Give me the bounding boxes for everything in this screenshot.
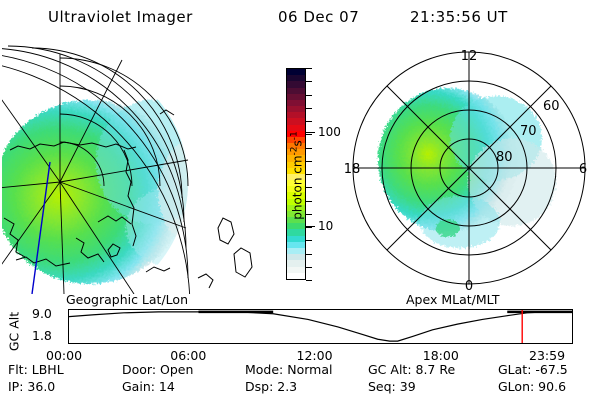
observation-date: 06 Dec 07 <box>278 8 359 26</box>
colorbar-minor-tick <box>306 227 312 228</box>
time-tick-1200: 12:00 <box>297 348 333 363</box>
colorbar-major-tick <box>306 132 315 133</box>
colorbar-minor-tick <box>306 240 312 241</box>
geographic-caption: Geographic Lat/Lon <box>66 292 188 307</box>
status-glat: GLat: -67.5 <box>498 362 568 377</box>
status-gain: Gain: 14 <box>122 379 175 394</box>
colorbar-minor-tick <box>306 267 312 268</box>
header: Ultraviolet Imager 06 Dec 07 21:35:56 UT <box>0 4 600 32</box>
colorbar-minor-tick <box>306 95 312 96</box>
colorbar-minor-tick <box>306 121 312 122</box>
status-dsp: Dsp: 2.3 <box>245 379 297 394</box>
status-ip: IP: 36.0 <box>8 379 55 394</box>
mlt-label-6: 6 <box>579 162 587 177</box>
colorbar-label-exp1: -2 <box>290 146 300 155</box>
colorbar-label-exp2: -1 <box>290 131 300 140</box>
status-mode: Mode: Normal <box>245 362 332 377</box>
colorbar-minor-tick <box>306 214 312 215</box>
colorbar-ticks: 10010 <box>306 68 342 280</box>
colorbar-label-mid: s <box>291 140 305 146</box>
altitude-curve-svg <box>69 310 572 343</box>
mlt-label-18: 18 <box>344 162 361 177</box>
colorbar-group: 10010 photon cm-2s-1 <box>266 60 342 295</box>
time-tick-2359: 23:59 <box>529 348 565 363</box>
colorbar-minor-tick <box>306 174 312 175</box>
mlt-spokes <box>353 52 585 284</box>
colorbar-minor-tick <box>306 254 312 255</box>
colorbar-axis-label: photon cm-2s-1 <box>290 101 305 251</box>
mlat-label-80: 80 <box>496 150 513 165</box>
status-seq: Seq: 39 <box>368 379 416 394</box>
apex-caption: Apex MLat/MLT <box>406 292 500 307</box>
colorbar-label-main: photon cm <box>291 155 305 219</box>
colorbar-minor-tick <box>306 108 312 109</box>
apex-plot: 12 6 0 18 60 70 80 <box>340 42 598 294</box>
colorbar-minor-tick <box>306 201 312 202</box>
colorbar-minor-tick <box>306 81 312 82</box>
status-door: Door: Open <box>122 362 193 377</box>
colorbar-minor-tick <box>306 148 312 149</box>
colorbar-tick-label-100: 100 <box>318 125 341 139</box>
status-flt: Flt: LBHL <box>8 362 64 377</box>
colorbar-minor-tick <box>306 161 312 162</box>
status-glon: GLon: 90.6 <box>498 379 566 394</box>
status-block: Flt: LBHLDoor: OpenMode: NormalGC Alt: 8… <box>0 362 600 400</box>
mlat-label-70: 70 <box>520 124 537 139</box>
colorbar-minor-tick <box>306 68 312 69</box>
mlt-label-12: 12 <box>461 49 478 64</box>
time-tick-0000: 00:00 <box>46 348 82 363</box>
altitude-ylabel: GC Alt <box>7 304 22 360</box>
altitude-plot[interactable] <box>68 309 573 344</box>
colorbar-band-33 <box>287 273 305 279</box>
colorbar-minor-tick <box>306 187 312 188</box>
colorbar-minor-tick <box>306 280 312 281</box>
altitude-ytick-low: 1.8 <box>32 328 52 343</box>
instrument-title: Ultraviolet Imager <box>48 8 193 26</box>
colorbar-major-tick <box>306 226 315 227</box>
altitude-curve <box>69 312 572 341</box>
colorbar-tick-label-10: 10 <box>318 219 333 233</box>
observation-time: 21:35:56 UT <box>410 8 508 26</box>
status-gc-alt: GC Alt: 8.7 Re <box>368 362 455 377</box>
geographic-plot <box>2 42 264 294</box>
apex-panel: 12 6 0 18 60 70 80 <box>340 42 598 294</box>
time-tick-1800: 18:00 <box>423 348 459 363</box>
geographic-panel <box>2 42 264 294</box>
time-tick-0600: 06:00 <box>170 348 206 363</box>
mlat-label-60: 60 <box>543 99 560 114</box>
colorbar-minor-tick <box>306 134 312 135</box>
uvi-display: Ultraviolet Imager 06 Dec 07 21:35:56 UT <box>0 0 600 400</box>
altitude-ytick-high: 9.0 <box>32 306 52 321</box>
altitude-strip: GC Alt 9.0 1.8 00:0006:0012:0018:0023:59 <box>0 306 600 356</box>
